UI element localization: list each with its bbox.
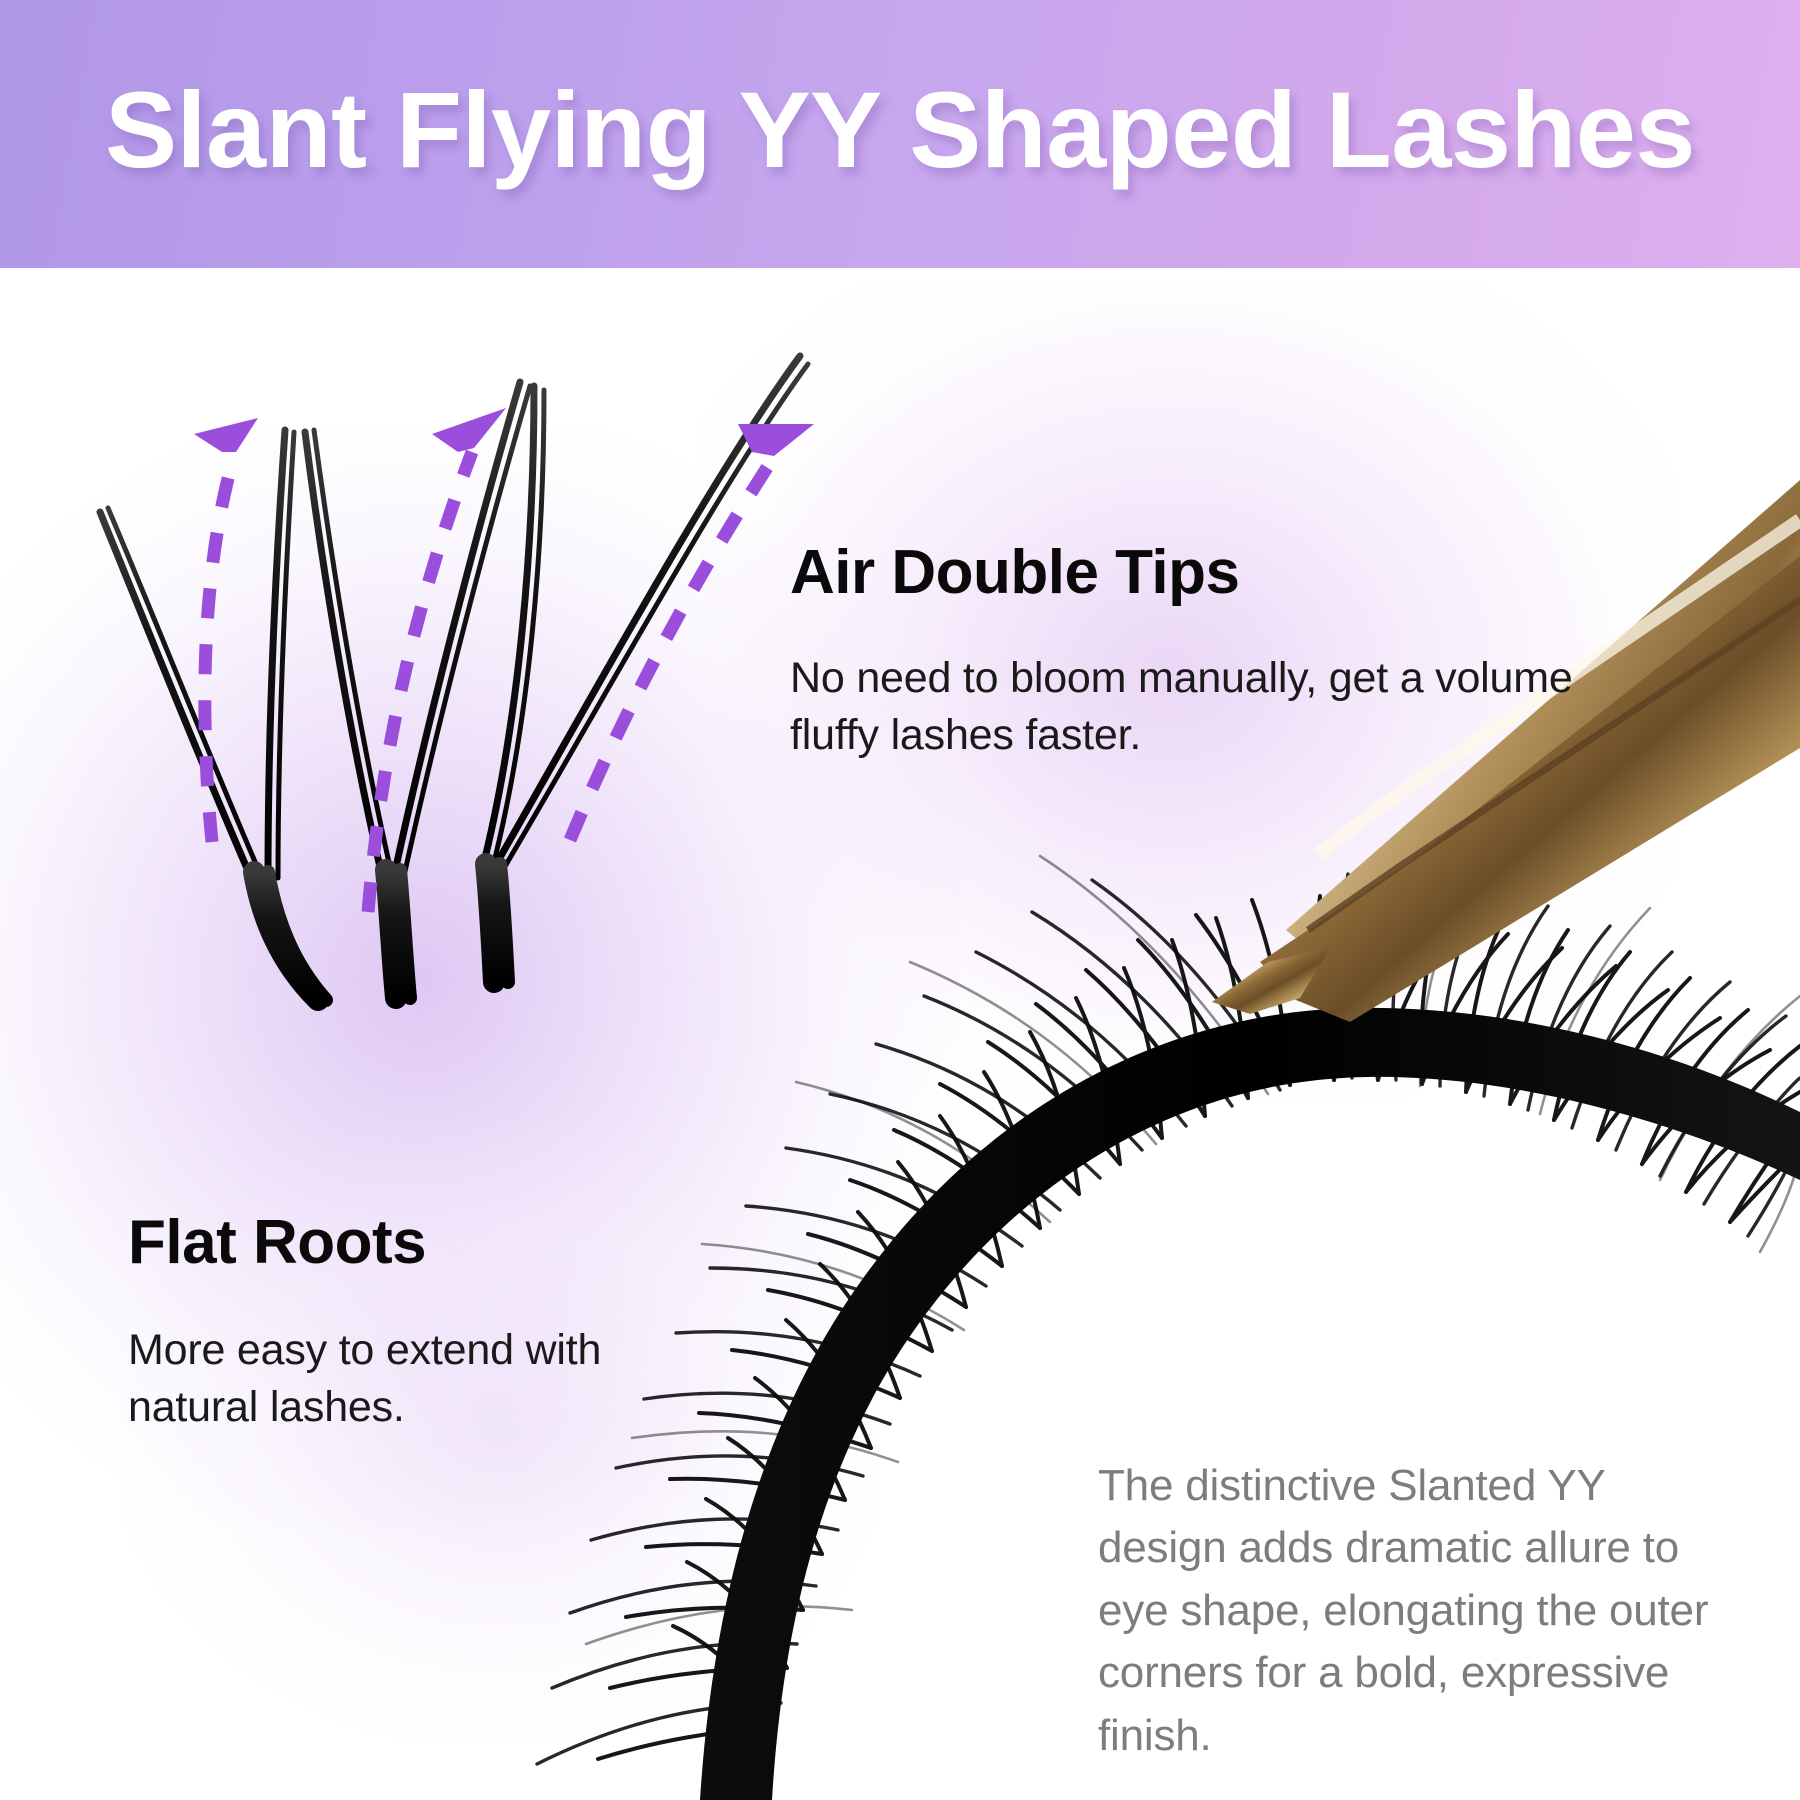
feature-body-flat-roots: More easy to extend with natural lashes. [128, 1322, 648, 1436]
motion-arrow-heads [194, 408, 814, 456]
lash-cluster-2 [305, 382, 530, 998]
tweezer-tip [1212, 948, 1330, 1014]
page-title: Slant Flying YY Shaped Lashes [105, 76, 1695, 184]
motion-arrow-2-path [368, 452, 472, 912]
feature-body-air-double-tips: No need to bloom manually, get a volume … [790, 650, 1580, 764]
lash-cluster-1 [100, 430, 326, 1000]
infographic-page: Slant Flying YY Shaped Lashes Air Double… [0, 0, 1800, 1800]
tweezer-lower-arm [1260, 556, 1800, 1022]
motion-arrow-2-head [432, 408, 506, 452]
header-banner: Slant Flying YY Shaped Lashes [0, 0, 1800, 268]
lash-cluster-3 [482, 356, 808, 982]
motion-arrows [205, 452, 772, 912]
motion-arrow-3-head [738, 424, 814, 456]
feature-heading-air-double-tips: Air Double Tips [790, 540, 1240, 605]
motion-arrow-1-head [194, 418, 258, 452]
motion-arrow-1-path [205, 456, 234, 842]
product-description: The distinctive Slanted YY design adds d… [1098, 1455, 1738, 1767]
motion-arrow-3-path [570, 460, 772, 840]
feature-heading-flat-roots: Flat Roots [128, 1210, 426, 1275]
